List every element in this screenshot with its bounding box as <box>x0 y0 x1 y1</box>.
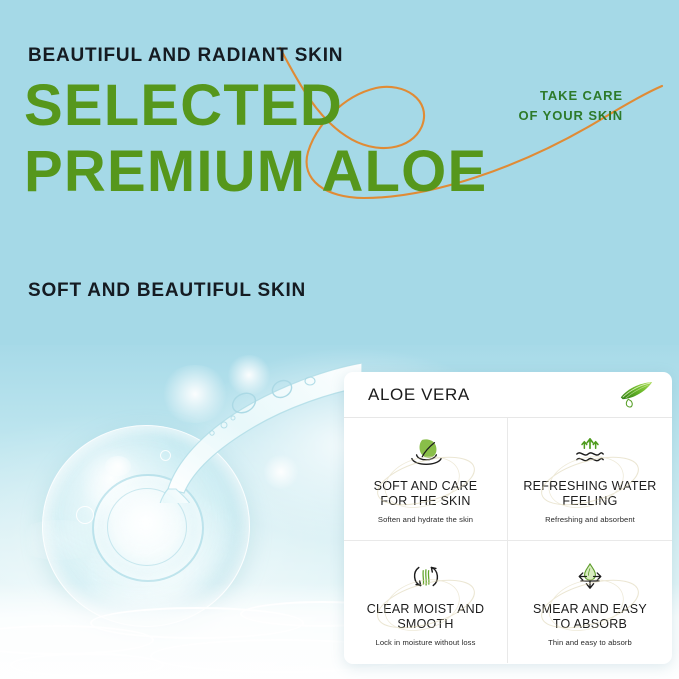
feature-cell-clear-moist: CLEAR MOIST AND SMOOTH Lock in moisture … <box>344 541 508 664</box>
bubble-highlight <box>105 456 131 476</box>
feature-subtitle: Refreshing and absorbent <box>545 515 635 524</box>
page-title: SELECTED PREMIUM ALOE <box>24 78 487 201</box>
feature-subtitle: Thin and easy to absorb <box>548 638 632 647</box>
feature-title-line-1: SMEAR AND EASY <box>533 602 647 617</box>
feature-title: CLEAR MOIST AND SMOOTH <box>367 602 484 633</box>
moisture-cycle-icon <box>408 559 444 593</box>
feature-title: SMEAR AND EASY TO ABSORB <box>533 602 647 633</box>
bubble-highlight <box>76 506 94 524</box>
take-care-line-2: OF YOUR SKIN <box>519 106 623 126</box>
features-grid: SOFT AND CARE FOR THE SKIN Soften and hy… <box>344 418 672 663</box>
leaf-ripple-icon <box>407 436 445 470</box>
aloe-leaf-drop-icon <box>616 380 656 410</box>
feature-title-line-1: SOFT AND CARE <box>374 479 478 494</box>
feature-title-line-2: TO ABSORB <box>533 617 647 632</box>
card-title: ALOE VERA <box>368 385 616 405</box>
features-card: ALOE VERA <box>344 372 672 664</box>
feature-title: REFRESHING WATER FEELING <box>523 479 656 510</box>
feature-cell-soft-and-care: SOFT AND CARE FOR THE SKIN Soften and hy… <box>344 418 508 541</box>
take-care-line-1: TAKE CARE <box>519 86 623 106</box>
feature-title-line-1: REFRESHING WATER <box>523 479 656 494</box>
feature-title-line-2: FEELING <box>523 494 656 509</box>
headline-line-2: PREMIUM ALOE <box>24 144 487 201</box>
feature-title-line-2: FOR THE SKIN <box>374 494 478 509</box>
card-header: ALOE VERA <box>344 372 672 418</box>
take-care-tagline: TAKE CARE OF YOUR SKIN <box>519 86 623 126</box>
water-waves-sprout-icon <box>571 436 609 470</box>
feature-subtitle: Lock in moisture without loss <box>376 638 476 647</box>
feature-cell-refreshing-water: REFRESHING WATER FEELING Refreshing and … <box>508 418 672 541</box>
droplet-absorb-arrow-icon <box>572 559 608 593</box>
feature-subtitle: Soften and hydrate the skin <box>378 515 473 524</box>
feature-cell-smear-and-absorb: SMEAR AND EASY TO ABSORB Thin and easy t… <box>508 541 672 664</box>
headline-line-1: SELECTED <box>24 73 343 138</box>
poster-root: BEAUTIFUL AND RADIANT SKIN SELECTED PREM… <box>0 0 679 679</box>
feature-title-line-1: CLEAR MOIST AND <box>367 602 484 617</box>
feature-title-line-2: SMOOTH <box>367 617 484 632</box>
eyebrow-text: BEAUTIFUL AND RADIANT SKIN <box>28 45 343 67</box>
subheadline-text: SOFT AND BEAUTIFUL SKIN <box>28 280 306 302</box>
gel-stream <box>132 363 362 503</box>
water-ripple <box>10 653 164 677</box>
feature-title: SOFT AND CARE FOR THE SKIN <box>374 479 478 510</box>
